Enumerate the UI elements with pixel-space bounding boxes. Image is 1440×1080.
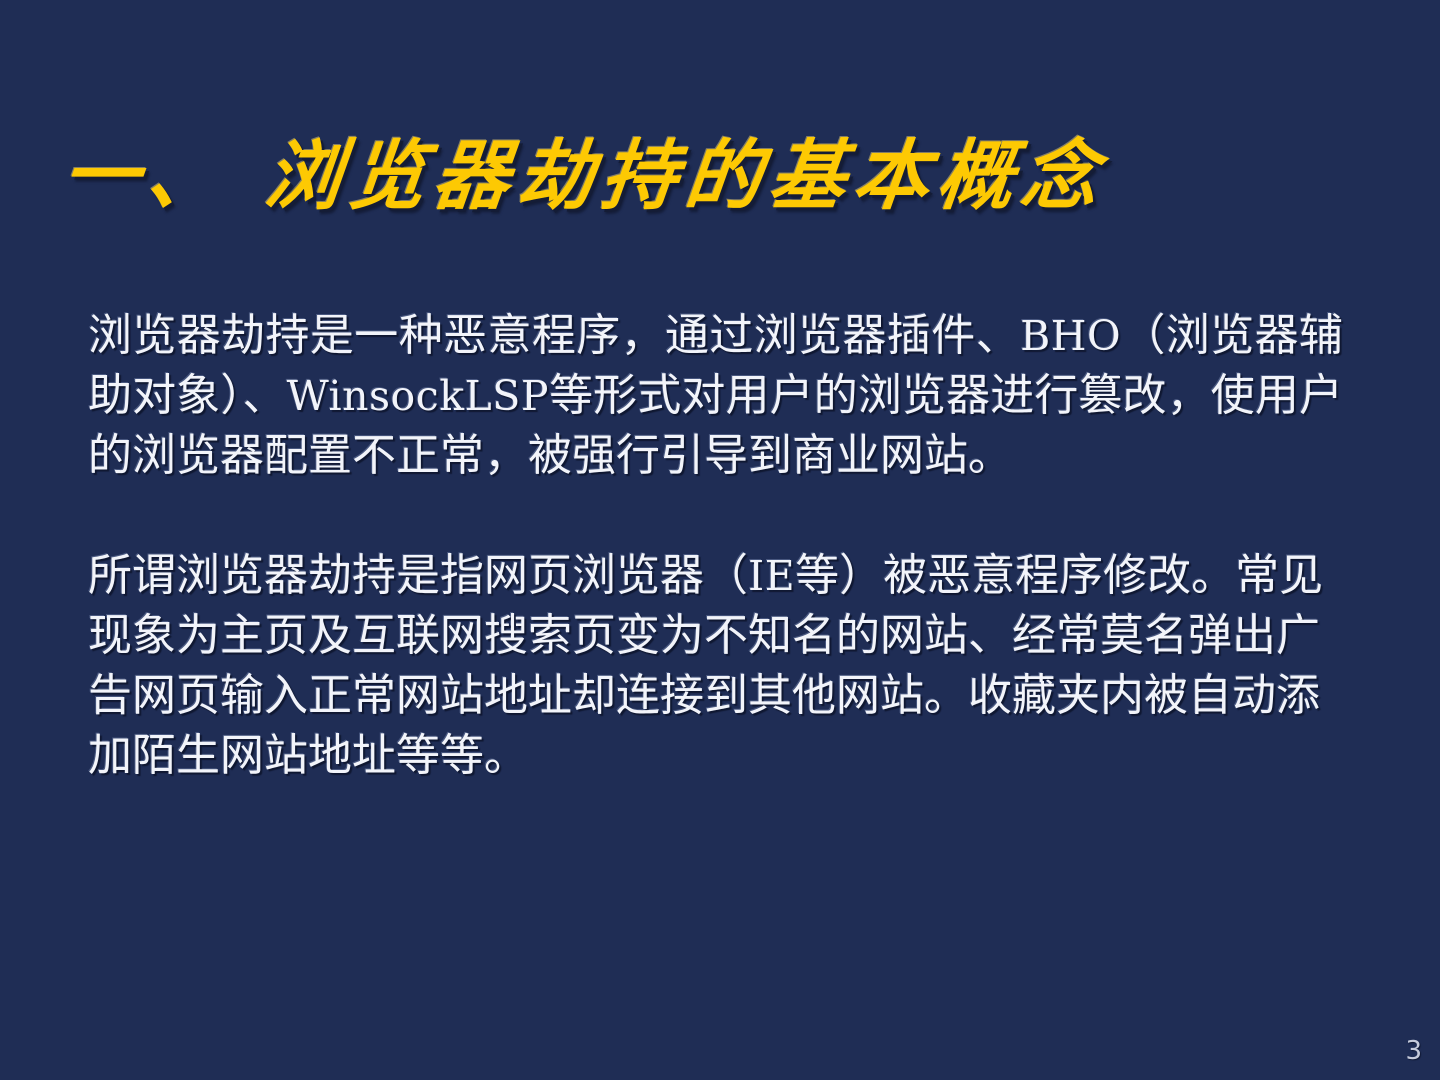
- page-number: 3: [1405, 1036, 1422, 1066]
- paragraph-symptoms: 所谓浏览器劫持是指网页浏览器（IE等）被恶意程序修改。常见现象为主页及互联网搜索…: [88, 546, 1343, 786]
- paragraph-definition-segment-4: WinsockLSP: [287, 372, 549, 420]
- slide-body: 浏览器劫持是一种恶意程序，通过浏览器插件、BHO（浏览器辅助对象）、Winsoc…: [88, 306, 1343, 786]
- slide: 一、 浏览器劫持的基本概念 浏览器劫持是一种恶意程序，通过浏览器插件、BHO（浏…: [0, 0, 1440, 1080]
- paragraph-symptoms-segment-2: IE: [748, 552, 795, 600]
- paragraph-definition-segment-1: 浏览器劫持是一种恶意程序，通过浏览器插件、: [88, 310, 1020, 361]
- paragraph-definition-segment-2: BHO: [1020, 312, 1121, 360]
- paragraph-definition: 浏览器劫持是一种恶意程序，通过浏览器插件、BHO（浏览器辅助对象）、Winsoc…: [88, 306, 1343, 486]
- paragraph-symptoms-segment-1: 所谓浏览器劫持是指网页浏览器（: [88, 550, 748, 601]
- slide-title: 一、 浏览器劫持的基本概念: [58, 128, 1388, 224]
